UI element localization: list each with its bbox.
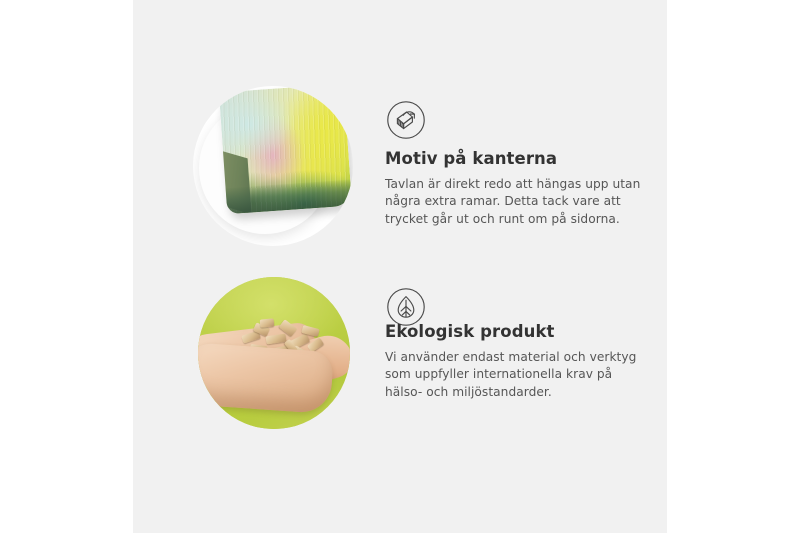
feature-block-ekologisk-produkt: Ekologisk produkt Vi använder endast mat…	[133, 265, 667, 445]
feature-text-motiv-pa-kanterna: Motiv på kanterna Tavlan är direkt redo …	[385, 150, 653, 228]
leaf-icon	[386, 287, 426, 327]
feature-description: Tavlan är direkt redo att hängas upp uta…	[385, 176, 653, 228]
feature-title: Ekologisk produkt	[385, 323, 653, 342]
feature-title: Motiv på kanterna	[385, 150, 653, 169]
painted-canvas-corner	[219, 86, 352, 214]
hands-with-wood-chips-photo	[198, 277, 350, 429]
product-feature-banner: Motiv på kanterna Tavlan är direkt redo …	[0, 0, 800, 533]
feature-description: Vi använder endast material och verktyg …	[385, 349, 653, 401]
feature-block-motiv-pa-kanterna: Motiv på kanterna Tavlan är direkt redo …	[133, 78, 667, 258]
wrapped-canvas-edge-icon	[386, 100, 426, 140]
hand-front	[198, 342, 334, 414]
canvas-corner-photo	[193, 86, 353, 246]
feature-text-ekologisk-produkt: Ekologisk produkt Vi använder endast mat…	[385, 323, 653, 401]
content-panel: Motiv på kanterna Tavlan är direkt redo …	[133, 0, 667, 533]
